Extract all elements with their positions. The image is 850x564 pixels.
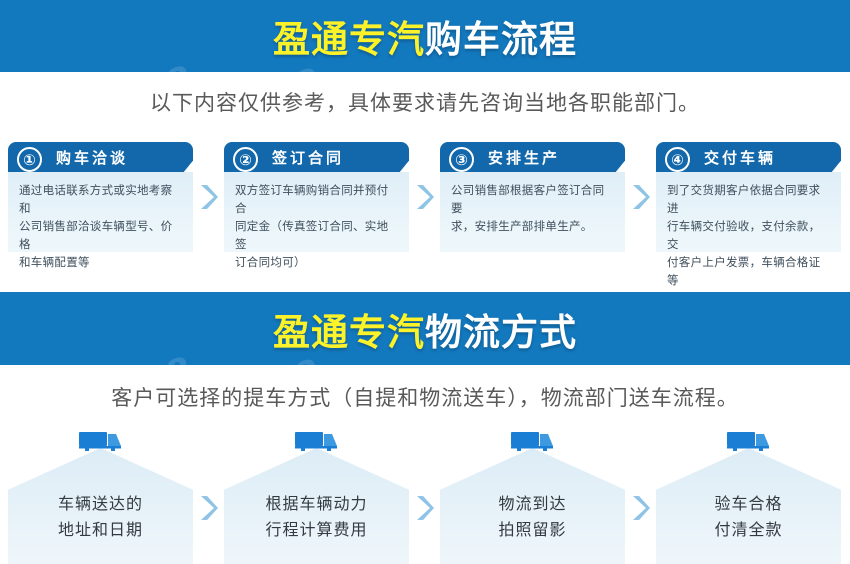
step-body: 公司销售部根据客户签订合同要 求，安排生产部排单生产。 [440, 172, 625, 252]
truck-icon [78, 430, 124, 454]
step-title: 购车洽谈 [56, 147, 128, 168]
step-card-4: ④ 交付车辆 到了交货期客户依据合同要求进 行车辆交付验收，支付余款，交 付客户… [656, 142, 841, 252]
logistics-text-line: 车辆送达的 [58, 491, 143, 517]
step-text-line: 公司销售部洽谈车辆型号、价格 [19, 217, 183, 253]
step-body: 双方签订车辆购销合同并预付合 同定金（传真签订合同、实地签 订合同均可） [224, 172, 409, 252]
step-text-line: 订合同均可） [235, 253, 399, 271]
logistics-text-line: 物流到达 [498, 491, 566, 517]
step-arrow-1 [193, 142, 224, 252]
purchase-banner: 13886852428 13886852428 13886852428 1388… [0, 0, 850, 72]
brand-name: 盈通专汽 [273, 311, 425, 354]
step-text-line: 到了交货期客户依据合同要求进 [667, 181, 831, 217]
logistics-banner-title: 盈通专汽物流方式 [273, 302, 577, 356]
logistics-arrow-2 [409, 430, 440, 564]
chevron-right-icon [631, 493, 651, 523]
step-header: ③ 安排生产 [440, 142, 625, 172]
step-text-line: 行车辆交付验收，支付余款，交 [667, 217, 831, 253]
logistics-text-line: 根据车辆动力 [265, 491, 367, 517]
step-body: 到了交货期客户依据合同要求进 行车辆交付验收，支付余款，交 付客户上户发票，车辆… [656, 172, 841, 252]
step-arrow-2 [409, 142, 440, 252]
chevron-right-icon [199, 182, 219, 212]
logistics-arrow-1 [193, 430, 224, 564]
banner-heading: 物流方式 [425, 311, 577, 354]
logistics-row: 车辆送达的 地址和日期 根据车辆动力 行程计算费用 [8, 430, 842, 564]
truck-icon [510, 430, 556, 454]
step-text-line: 通过电话联系方式或实地考察和 [19, 181, 183, 217]
truck-icon [726, 430, 772, 454]
chevron-right-icon [415, 493, 435, 523]
step-title: 签订合同 [272, 147, 344, 168]
step-text-line: 同定金（传真签订合同、实地签 [235, 217, 399, 253]
step-text-line: 求，安排生产部排单生产。 [451, 217, 615, 235]
purchase-subtitle: 以下内容仅供参考，具体要求请先咨询当地各职能部门。 [0, 87, 850, 117]
truck-icon [294, 430, 340, 454]
step-arrow-3 [625, 142, 656, 252]
promo-page: 13886852428 13886852428 13886852428 1388… [0, 0, 850, 564]
logistics-text-line: 行程计算费用 [265, 517, 367, 543]
logistics-pentagon: 根据车辆动力 行程计算费用 [224, 448, 409, 564]
step-text-line: 付客户上户发票，车辆合格证等 [667, 253, 831, 289]
logistics-pentagon: 验车合格 付清全款 [656, 448, 841, 564]
chevron-right-icon [199, 493, 219, 523]
brand-name: 盈通专汽 [273, 18, 425, 61]
step-number-badge: ④ [665, 147, 690, 172]
logistics-card-3: 物流到达 拍照留影 [440, 430, 625, 564]
logistics-banner: 13886852428 13886852428 13886852428 1388… [0, 292, 850, 365]
step-card-3: ③ 安排生产 公司销售部根据客户签订合同要 求，安排生产部排单生产。 [440, 142, 625, 252]
chevron-right-icon [415, 182, 435, 212]
purchase-banner-title: 盈通专汽购车流程 [273, 9, 577, 63]
logistics-card-4: 验车合格 付清全款 [656, 430, 841, 564]
logistics-text-line: 地址和日期 [58, 517, 143, 543]
logistics-pentagon: 物流到达 拍照留影 [440, 448, 625, 564]
logistics-subtitle: 客户可选择的提车方式（自提和物流送车），物流部门送车流程。 [0, 382, 850, 412]
step-card-2: ② 签订合同 双方签订车辆购销合同并预付合 同定金（传真签订合同、实地签 订合同… [224, 142, 409, 252]
step-title: 交付车辆 [704, 147, 776, 168]
logistics-card-2: 根据车辆动力 行程计算费用 [224, 430, 409, 564]
logistics-text-line: 验车合格 [714, 491, 782, 517]
step-text-line: 和车辆配置等 [19, 253, 183, 271]
chevron-right-icon [631, 182, 651, 212]
step-title: 安排生产 [488, 147, 560, 168]
step-body: 通过电话联系方式或实地考察和 公司销售部洽谈车辆型号、价格 和车辆配置等 [8, 172, 193, 252]
logistics-text-line: 付清全款 [714, 517, 782, 543]
step-number-badge: ① [17, 147, 42, 172]
purchase-steps-row: ① 购车洽谈 通过电话联系方式或实地考察和 公司销售部洽谈车辆型号、价格 和车辆… [8, 142, 842, 252]
banner-heading: 购车流程 [425, 18, 577, 61]
step-text-line: 公司销售部根据客户签订合同要 [451, 181, 615, 217]
step-header: ④ 交付车辆 [656, 142, 841, 172]
step-card-1: ① 购车洽谈 通过电话联系方式或实地考察和 公司销售部洽谈车辆型号、价格 和车辆… [8, 142, 193, 252]
step-number-badge: ③ [449, 147, 474, 172]
logistics-arrow-3 [625, 430, 656, 564]
logistics-card-1: 车辆送达的 地址和日期 [8, 430, 193, 564]
step-header: ① 购车洽谈 [8, 142, 193, 172]
step-text-line: 双方签订车辆购销合同并预付合 [235, 181, 399, 217]
logistics-pentagon: 车辆送达的 地址和日期 [8, 448, 193, 564]
step-header: ② 签订合同 [224, 142, 409, 172]
logistics-text-line: 拍照留影 [498, 517, 566, 543]
step-number-badge: ② [233, 147, 258, 172]
